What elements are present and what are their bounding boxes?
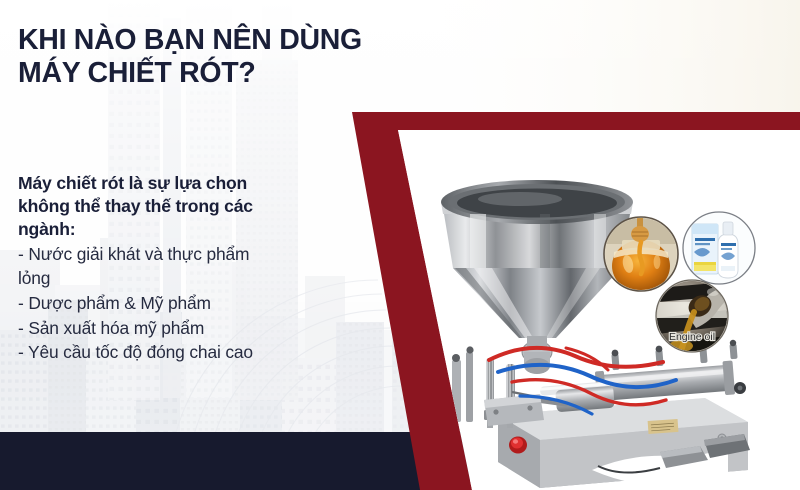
lead-line-2: không thể thay thế trong các: [18, 195, 358, 218]
list-item: lỏng: [18, 266, 358, 291]
engine-oil-caption: Engine oil: [669, 331, 715, 343]
industry-list: - Nước giải khát và thực phẩm lỏng - Dượ…: [18, 242, 358, 366]
headline-line-2: MÁY CHIẾT RÓT?: [18, 57, 448, 90]
slide-canvas: Engine oil KHI NÀO BẠN NÊN DÙNG MÁY CHIẾ…: [0, 0, 800, 490]
list-item: - Nước giải khát và thực phẩm: [18, 242, 358, 267]
list-item: - Sản xuất hóa mỹ phẩm: [18, 316, 358, 341]
lead-paragraph: Máy chiết rót là sự lựa chọn không thể t…: [18, 172, 358, 241]
emergency-stop-button: [509, 437, 527, 454]
cosmetic-bottles-inset: [683, 212, 755, 284]
lead-line-3: ngành:: [18, 218, 358, 241]
list-item: - Dược phẩm & Mỹ phẩm: [18, 291, 358, 316]
list-item: - Yêu cầu tốc độ đóng chai cao: [18, 340, 358, 365]
lead-line-1: Máy chiết rót là sự lựa chọn: [18, 172, 358, 195]
body-content: Máy chiết rót là sự lựa chọn không thể t…: [18, 172, 358, 365]
page-title: KHI NÀO BẠN NÊN DÙNG MÁY CHIẾT RÓT?: [18, 24, 448, 90]
headline-line-1: KHI NÀO BẠN NÊN DÙNG: [18, 24, 362, 56]
honey-jar-inset: [604, 216, 678, 292]
